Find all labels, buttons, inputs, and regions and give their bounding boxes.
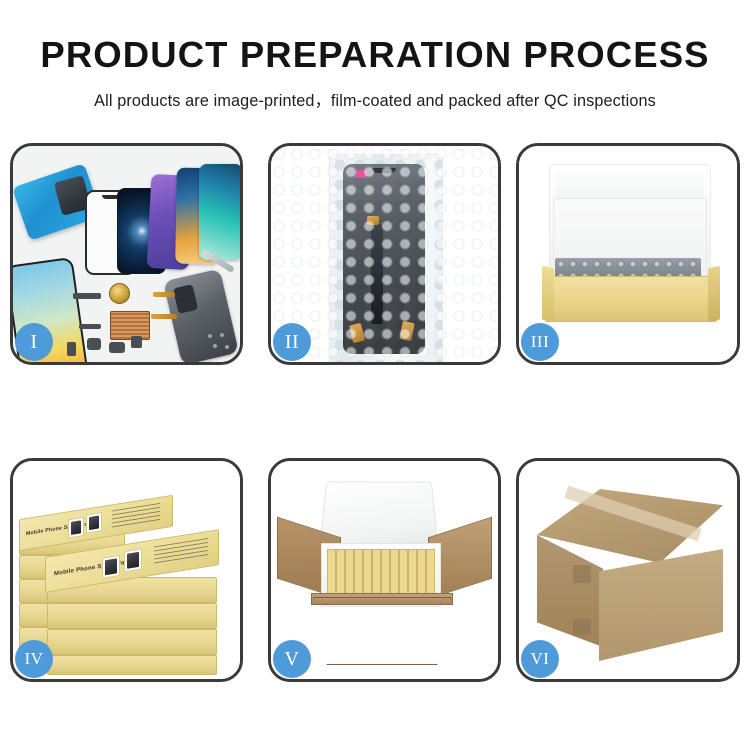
process-step-panel-1[interactable]: I [10,143,243,365]
stacked-box [47,603,217,629]
box-product-thumbnail [68,517,84,539]
stacked-box [47,655,217,675]
carton-body-icon [313,597,451,665]
step-badge-1: I [15,323,53,361]
carton-tab [573,619,591,635]
coil-part-icon [109,283,130,304]
sealed-carton-icon [537,489,723,655]
process-step-panel-3[interactable]: III [516,143,740,365]
process-step-panel-5[interactable]: V [268,458,501,682]
step-badge-6: VI [521,640,559,678]
carton-right-face [599,549,723,661]
small-part-icon [79,324,101,329]
small-part-icon [73,293,101,299]
small-part-icon [131,336,142,348]
mesh-part-icon [110,311,150,340]
gold-connector-icon [367,216,379,225]
process-step-panel-2[interactable]: II [268,143,501,365]
box-product-thumbnail [124,548,142,572]
flex-cable-icon [153,292,175,297]
teal-phone-icon [199,164,240,260]
small-part-icon [109,342,125,353]
step-badge-3: III [521,323,559,361]
screws-icon [206,332,232,354]
process-step-panel-4[interactable]: Mobile Phone Spare Parts Mobile Phone Sp… [10,458,243,682]
carton-left-face [537,535,603,647]
pink-label-icon [355,170,367,178]
process-step-grid: I II III [0,0,750,750]
flex-cable-icon [371,224,383,324]
box-stack: Mobile Phone Spare Parts Mobile Phone Sp… [17,485,237,671]
box-product-thumbnail [86,512,102,534]
packed-yellow-boxes-icon [327,549,435,599]
step-badge-4: IV [15,640,53,678]
process-step-panel-6[interactable]: VI [516,458,740,682]
step-badge-2: II [273,323,311,361]
small-part-icon [87,338,101,350]
box-product-thumbnail [102,555,120,579]
kraft-tray-icon [545,276,717,322]
flex-cable-icon [151,314,177,319]
carton-tab [573,565,591,583]
small-part-icon [67,342,76,356]
stacked-box [47,629,217,655]
step-badge-5: V [273,640,311,678]
